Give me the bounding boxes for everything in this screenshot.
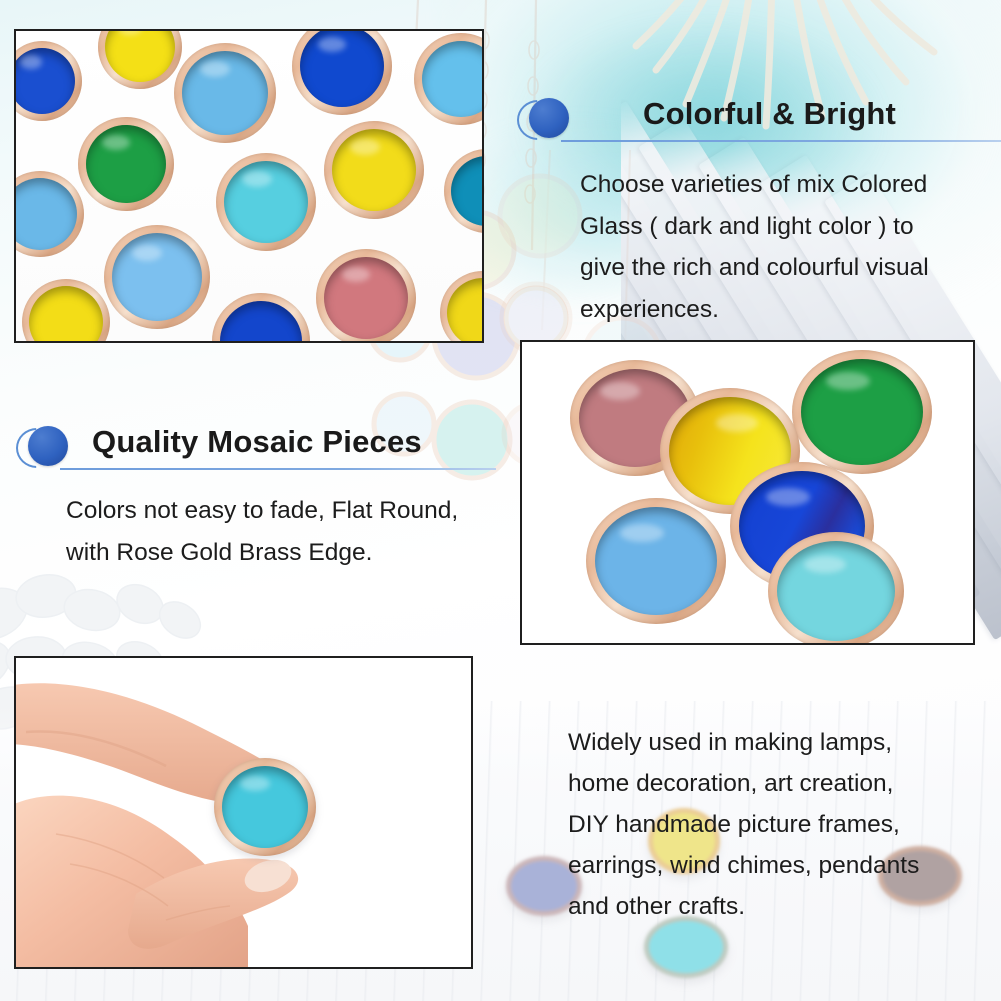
glass-piece	[216, 153, 316, 251]
feature-block-colorful: Colorful & Bright Choose varieties of mi…	[517, 96, 987, 330]
heading-title: Colorful & Bright	[643, 96, 896, 132]
held-glass-piece-turquoise	[214, 758, 316, 856]
blue-circle-bullet-icon	[16, 426, 72, 470]
glass-piece-light-blue	[586, 498, 726, 624]
glass-piece	[316, 249, 416, 343]
hand-holding-glass-piece-photo	[14, 656, 473, 969]
glass-piece	[104, 225, 210, 329]
glass-piece	[78, 117, 174, 211]
heading-rule	[60, 468, 496, 470]
stacked-glass-pieces-photo	[520, 340, 975, 645]
glass-piece	[324, 121, 424, 219]
heading-row: Colorful & Bright	[517, 96, 987, 148]
infographic-canvas: Colorful & Bright Choose varieties of mi…	[0, 0, 1001, 1001]
glass-piece-turquoise	[768, 532, 904, 645]
body-text: Widely used in making lamps, home decora…	[568, 722, 988, 927]
heading-title: Quality Mosaic Pieces	[92, 424, 422, 460]
blue-circle-bullet-icon	[517, 98, 573, 142]
scattered-glass-circles-photo	[14, 29, 484, 343]
body-text: Colors not easy to fade, Flat Round, wit…	[66, 490, 496, 573]
glass-piece	[174, 43, 276, 143]
body-text: Choose varieties of mix Colored Glass ( …	[580, 164, 987, 330]
heading-rule	[561, 140, 1001, 142]
feature-block-quality: Quality Mosaic Pieces Colors not easy to…	[16, 424, 496, 573]
feature-block-usage: Widely used in making lamps, home decora…	[568, 722, 988, 927]
heading-row: Quality Mosaic Pieces	[16, 424, 496, 476]
glass-piece-green	[792, 350, 932, 474]
